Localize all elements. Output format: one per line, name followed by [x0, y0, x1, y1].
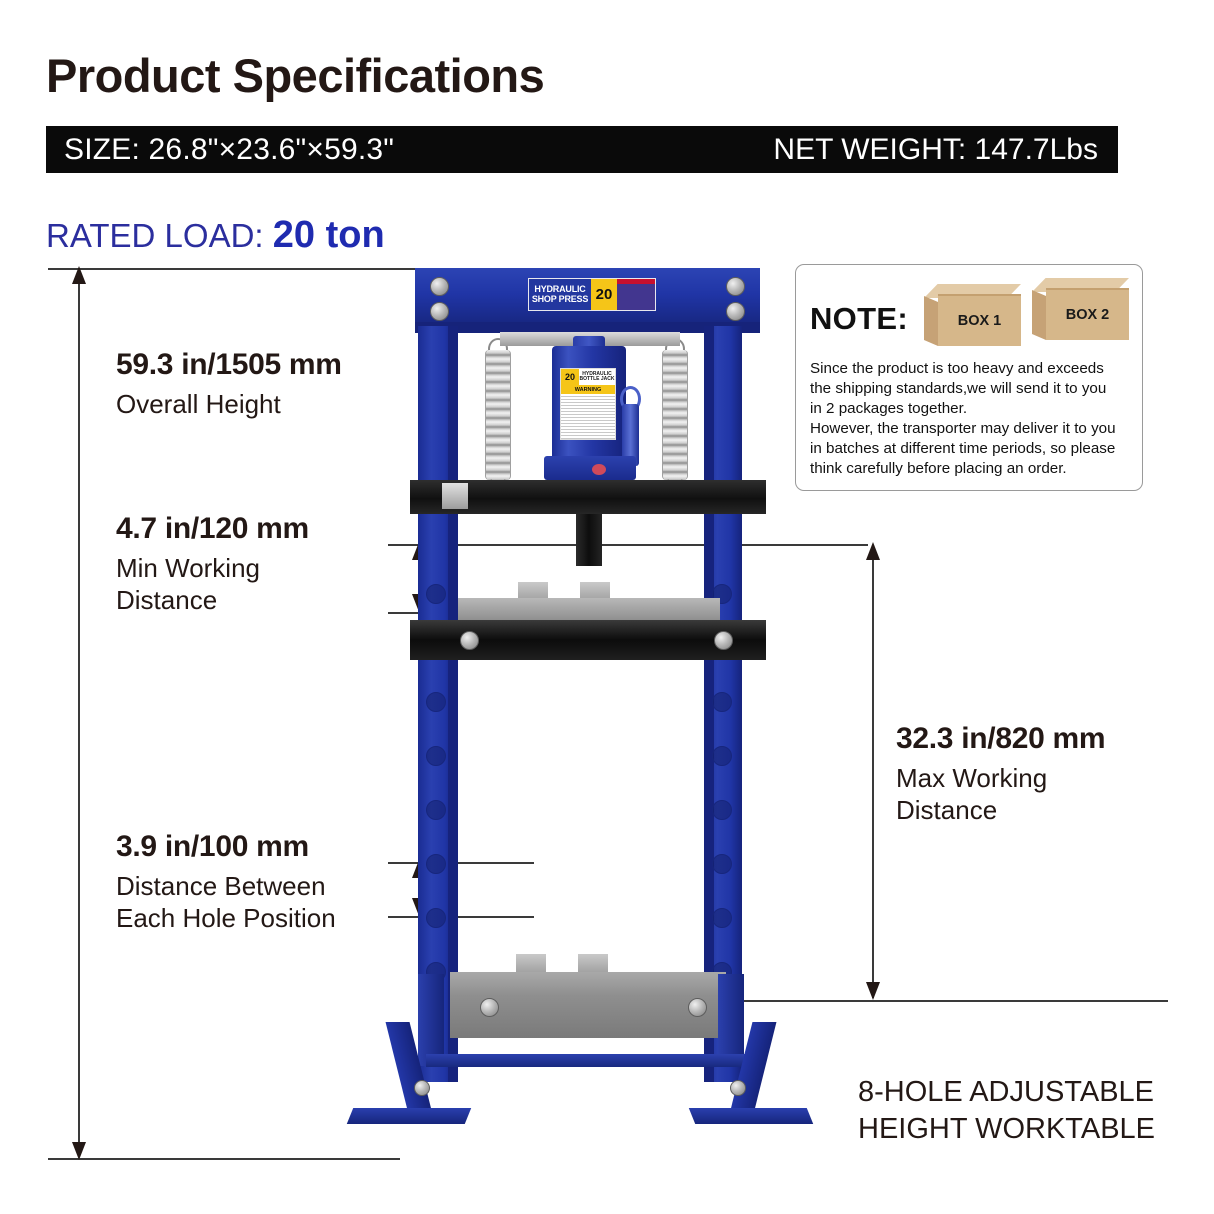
leg-bolt [414, 1080, 430, 1096]
press-brand-label: HYDRAULIC SHOP PRESS 20 [528, 278, 656, 311]
rated-load-label: RATED LOAD: [46, 217, 264, 254]
note-line-4: However, the transporter may deliver it … [810, 419, 1132, 439]
dimension-line-max-working [872, 550, 874, 998]
worktable-callout-line-2: HEIGHT WORKTABLE [858, 1111, 1155, 1148]
press-label-warning-panel [617, 279, 655, 310]
rated-load-value: 20 ton [273, 214, 385, 256]
overall-height-value: 59.3 in/1505 mm [116, 348, 342, 382]
lower-worktable-bolt [480, 998, 499, 1017]
hole-spacing-value: 3.9 in/100 mm [116, 830, 336, 864]
worktable-callout-line-1: 8-HOLE ADJUSTABLE [858, 1074, 1155, 1111]
bolster-tab [442, 483, 468, 509]
arrow-overall-bottom [72, 1142, 86, 1160]
top-beam-bolt [430, 302, 449, 321]
note-body-text: Since the product is too heavy and excee… [810, 359, 1132, 479]
jack-base [544, 456, 636, 480]
box-1-side [924, 296, 938, 346]
jack-label-fineprint [561, 394, 615, 439]
press-label-line-2: SHOP PRESS [532, 295, 588, 304]
min-working-distance-label-2: Distance [116, 585, 309, 617]
press-label-tonnage: 20 [591, 279, 617, 310]
shipping-note-box: NOTE: BOX 1 BOX 2 Since the product is t… [795, 264, 1143, 491]
lower-worktable-bolt [688, 998, 707, 1017]
return-spring-right [662, 350, 688, 480]
return-spring-left [485, 350, 511, 480]
min-working-distance-label-1: Min Working [116, 553, 309, 585]
measurement-overall-height: 59.3 in/1505 mm Overall Height [116, 348, 342, 421]
size-weight-bar: SIZE: 26.8"×23.6"×59.3" NET WEIGHT: 147.… [46, 126, 1118, 173]
upper-worktable-plate [458, 598, 720, 622]
max-working-distance-label-1: Max Working [896, 763, 1105, 795]
adjustment-hole [712, 908, 732, 928]
top-beam-bolt [726, 277, 745, 296]
arrow-max-top [866, 542, 880, 560]
base-cross-rail [426, 1054, 748, 1067]
hole-spacing-label-2: Each Hole Position [116, 903, 336, 935]
adjustment-hole [426, 908, 446, 928]
box-2-label: BOX 2 [1046, 290, 1129, 340]
arrow-max-bottom [866, 982, 880, 1000]
leg-bolt [730, 1080, 746, 1096]
note-line-2: the shipping standards,we will send it t… [810, 379, 1132, 399]
max-working-distance-label-2: Distance [896, 795, 1105, 827]
measurement-min-working-distance: 4.7 in/120 mm Min Working Distance [116, 512, 309, 616]
top-beam-bolt [726, 302, 745, 321]
press-ram [576, 514, 602, 566]
adjustment-hole [426, 746, 446, 766]
note-line-1: Since the product is too heavy and excee… [810, 359, 1132, 379]
hole-spacing-label-1: Distance Between [116, 871, 336, 903]
press-label-text: HYDRAULIC SHOP PRESS [529, 279, 591, 310]
base-bracket-left [418, 974, 444, 1066]
press-foot-pad-left [347, 1108, 471, 1124]
adjustment-hole [426, 584, 446, 604]
carton-illustrations: BOX 1 BOX 2 [924, 278, 1136, 352]
dimension-line-overall-height [78, 278, 80, 1150]
rated-load: RATED LOAD: 20 ton [46, 214, 385, 257]
note-line-6: think carefully before placing an order. [810, 459, 1132, 479]
adjustment-hole [426, 692, 446, 712]
note-line-5: in batches at different time periods, so… [810, 439, 1132, 459]
adjustment-hole [712, 800, 732, 820]
max-working-distance-value: 32.3 in/820 mm [896, 722, 1105, 756]
jack-label-tonnage: 20 [561, 369, 579, 385]
box-2-side [1032, 290, 1046, 340]
arrow-overall-top [72, 266, 86, 284]
adjustment-hole [426, 800, 446, 820]
product-specifications-infographic: Product Specifications SIZE: 26.8"×23.6"… [0, 0, 1214, 1214]
overall-height-label: Overall Height [116, 389, 342, 421]
worktable-callout: 8-HOLE ADJUSTABLE HEIGHT WORKTABLE [858, 1074, 1155, 1148]
jack-label: 20 HYDRAULIC BOTTLE JACK WARNING [560, 368, 616, 440]
top-beam-bolt [430, 277, 449, 296]
press-column-left-inner [448, 326, 458, 1082]
page-title: Product Specifications [46, 48, 544, 103]
jack-warning-banner: WARNING [561, 385, 615, 394]
hydraulic-shop-press-illustration: HYDRAULIC SHOP PRESS 20 20 HYDRAULIC [330, 262, 830, 1182]
box-1-icon: BOX 1 [924, 284, 1021, 346]
worktable-bolt [460, 631, 479, 650]
adjustment-hole [712, 854, 732, 874]
box-2-icon: BOX 2 [1032, 278, 1129, 340]
base-bracket-right [718, 974, 744, 1066]
adjustment-hole [712, 692, 732, 712]
press-foot-pad-right [689, 1108, 813, 1124]
jack-label-line-2: BOTTLE JACK [580, 377, 615, 383]
box-1-label: BOX 1 [938, 296, 1021, 346]
min-working-distance-value: 4.7 in/120 mm [116, 512, 309, 546]
worktable-bolt [714, 631, 733, 650]
size-label: SIZE: 26.8"×23.6"×59.3" [46, 133, 394, 167]
adjustment-hole [426, 854, 446, 874]
net-weight-label: NET WEIGHT: 147.7Lbs [773, 133, 1118, 167]
measurement-hole-spacing: 3.9 in/100 mm Distance Between Each Hole… [116, 830, 336, 934]
note-line-3: in 2 packages together. [810, 399, 1132, 419]
measurement-max-working-distance: 32.3 in/820 mm Max Working Distance [896, 722, 1105, 826]
jack-release-valve [592, 464, 606, 475]
adjustment-hole [712, 746, 732, 766]
